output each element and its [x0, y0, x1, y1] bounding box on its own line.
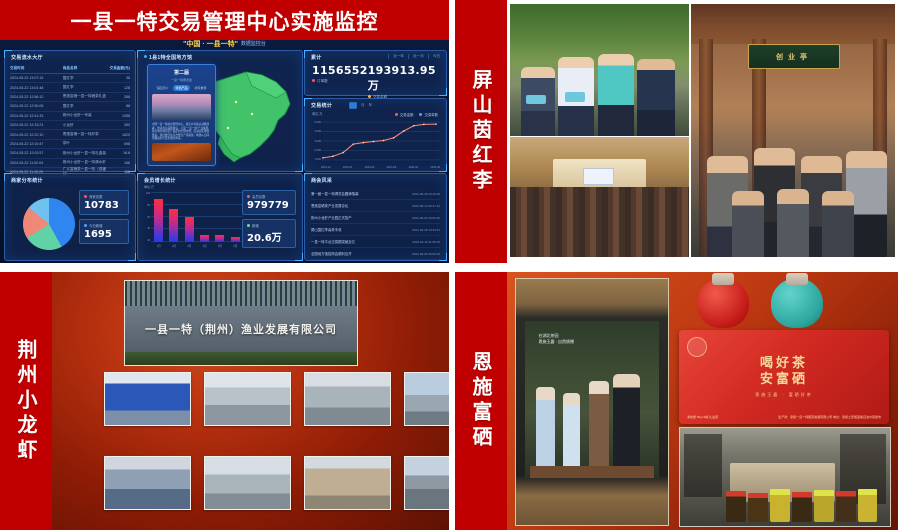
- trend-x-axis: 2023-12 2024-01 2024-02 2024-03 2024-04 …: [321, 166, 440, 169]
- bar-x-axis: 1月2月 3月4月 5月6月: [151, 244, 243, 248]
- stat-orders-label: 订单数: [312, 79, 368, 84]
- list-item[interactable]: 全国地方馆招商会顺利召开 2024-04-08 15:52:43: [311, 248, 440, 260]
- kpi-value: 979779: [247, 200, 291, 211]
- bar-item: [169, 209, 178, 242]
- table-header-row: 交易时间 商品名称 交易金额(元): [10, 64, 130, 74]
- photo-collage-enshi: 在湖北茶园 恩施玉露 · 自然馈赠: [507, 272, 898, 530]
- legend-dot-icon: [395, 113, 398, 116]
- popup-photo-landscape: [152, 94, 211, 120]
- x-tick: 6月: [233, 244, 237, 248]
- stat-amount: 193913.95万 交易金额: [368, 64, 439, 100]
- table-row[interactable]: 2024-05-22 12:56:12 恩施富硒一县一特硒茶礼盒 268: [10, 93, 130, 102]
- news-title: 屏山茵红李喜获丰收: [311, 227, 342, 232]
- photo-officials-holding-plums: [510, 4, 689, 136]
- cell-time: 2024-05-22 12:10:47: [10, 142, 63, 146]
- legend-orders: 交易单数: [419, 112, 438, 117]
- bar-series: [151, 192, 243, 242]
- photo-company-sign: 一县一特（荆州）渔业发展有限公司: [124, 280, 358, 366]
- label-strip-pingshan: 屏山茵红李: [455, 0, 507, 263]
- page-title: 一县一特交易管理中心实施监控: [0, 0, 449, 42]
- vertical-label: 恩施富硒: [470, 351, 492, 451]
- person-figure: [589, 381, 609, 469]
- panel-top-left: 一县一特交易管理中心实施监控 "中国 · 一县一特" 数据监控台 交易流水大厅 …: [0, 0, 449, 263]
- kpi-label: 商家总数: [84, 194, 124, 199]
- table-row[interactable]: 2024-05-22 12:10:47 茶叶 698: [10, 140, 130, 149]
- kpi-value: 20.6万: [247, 229, 291, 244]
- card-title-transactions: 交易流水大厅: [11, 54, 43, 61]
- x-tick: 2月: [172, 244, 176, 248]
- trend-tab-month[interactable]: 月: [361, 103, 365, 108]
- popup-tab-products[interactable]: 特色产品: [173, 85, 189, 91]
- person-figure: [563, 393, 580, 469]
- photo-tea-ceremony: 在湖北茶园 恩施玉露 · 自然馈赠: [515, 278, 669, 526]
- photo-collage-pingshan: 创业亭: [507, 0, 898, 263]
- dashboard-subtitle: 数据监控台: [241, 40, 266, 47]
- red-banner: 一县一特交易管理中心实施监控: [0, 0, 449, 42]
- sign-wall: 一县一特（荆州）渔业发展有限公司: [125, 306, 357, 351]
- kpi-member-total: 会员总数 979779: [242, 190, 296, 215]
- card-title-news: 商会风采: [311, 177, 332, 184]
- cell-name: 茶叶: [63, 141, 109, 146]
- col-name: 商品名称: [63, 66, 109, 71]
- photo-processing-equipment-1: [204, 372, 291, 426]
- stats-tab-group: 近一年 近一月 今日: [388, 54, 440, 59]
- popup-body-text: 中国一县一特交易管理中心，落实乡村振兴战略部署，推进农业品牌建设，打造"一县一特…: [152, 123, 211, 141]
- photo-group-at-pavilion: 创业亭: [691, 4, 895, 257]
- pie-chart: [23, 198, 75, 250]
- bar-item: [231, 237, 240, 242]
- card-transaction-trend: 交易统计 月 年 单位:万 交易金额 交易单数 5,000 4,000 3,00…: [304, 98, 447, 172]
- card-title-stats: 累计: [311, 54, 322, 61]
- trend-tab-group: 月 年: [349, 102, 372, 109]
- cell-amount: 166: [108, 161, 130, 165]
- person-figure: [536, 387, 555, 469]
- news-date: 2024-05-06 16:05:32: [412, 216, 440, 220]
- photo-gift-box: 喝好茶 安富硒 恩施玉露 · 富硒好茶 净含量 50g×2罐 礼盒装 生产商：恩…: [679, 330, 889, 424]
- bottle: [836, 491, 856, 522]
- list-item[interactable]: 恩施富硒茶产业发展论坛 2024-05-12 09:27:14: [311, 200, 440, 212]
- dashboard-screenshot: "中国 · 一县一特" 数据监控台 交易流水大厅 交易时间 商品名称 交易金额(…: [0, 40, 449, 263]
- bar-item: [215, 235, 224, 242]
- news-title: 全国地方馆招商会顺利召开: [311, 251, 352, 256]
- cell-amount: 18.8: [108, 151, 130, 155]
- ceramic-jars-group: [679, 276, 889, 334]
- bar-unit-label: 单位:万: [144, 185, 154, 189]
- table-row[interactable]: 2024-05-22 13:01:48 茵红李 128: [10, 83, 130, 92]
- kpi-label: 新增: [247, 223, 291, 228]
- news-title: 荆州小龙虾产业园正式投产: [311, 215, 352, 220]
- table-row[interactable]: 2024-05-22 12:50:06 茵红李 88: [10, 102, 130, 111]
- trend-y-axis: 5,000 4,000 3,000 2,000 1,000: [312, 121, 321, 161]
- photo-loading-dock: [204, 456, 291, 510]
- photo-stacked-cartons: [304, 456, 391, 510]
- fruit-basket: [526, 95, 546, 104]
- table-row[interactable]: 2024-05-22 13:07:15 茵红李 36: [10, 74, 130, 83]
- fruit-basket: [565, 92, 585, 101]
- news-title: 恩施富硒茶产业发展论坛: [311, 203, 348, 208]
- card-title-bar: 会员增长统计: [144, 177, 176, 184]
- list-item[interactable]: 荆州小龙虾产业园正式投产 2024-05-06 16:05:32: [311, 212, 440, 224]
- caption-line-2: 恩施玉露 · 自然馈赠: [538, 339, 574, 345]
- y-tick: 20: [142, 239, 150, 242]
- person-figure: [732, 191, 765, 257]
- map-popup-card[interactable]: 第二届 一县一特博览会 馆区简介 特色产品 商家推荐 中国一县一特交易管理中心，…: [147, 64, 216, 166]
- legend-amount: 交易金额: [395, 112, 414, 117]
- trend-unit-label: 单位:万: [312, 111, 322, 116]
- x-tick: 5月: [218, 244, 222, 248]
- bottle: [748, 493, 768, 522]
- cell-amount: 1620: [108, 133, 130, 137]
- card-national-map: 1县1特全国地方馆 第二届 一县一特博览会: [137, 50, 303, 172]
- person-figure: [613, 374, 640, 472]
- col-time: 交易时间: [10, 66, 63, 71]
- y-tick: 5,000: [312, 121, 321, 124]
- stats-tab-today[interactable]: 今日: [428, 54, 440, 59]
- gift-box-main-text: 喝好茶 安富硒: [679, 356, 889, 388]
- cell-name: 荆州小龙虾一县一特礼盒装: [63, 151, 109, 156]
- kpi-merchant-total: 商家总数 10783: [79, 190, 129, 215]
- cell-name: 荆州小龙虾一号装: [63, 113, 109, 118]
- stat-orders: 1156552 订单数: [312, 64, 368, 100]
- dashboard-header: "中国 · 一县一特" 数据监控台: [0, 37, 449, 50]
- legend-dot-icon: [84, 224, 87, 227]
- photo-factory-gate: [404, 372, 449, 426]
- y-tick: 1,000: [312, 158, 321, 161]
- trend-tab-day[interactable]: [349, 102, 357, 109]
- legend-dot-icon: [247, 195, 250, 198]
- col-amount: 交易金额(元): [108, 66, 130, 71]
- hedge: [125, 352, 357, 365]
- y-tick: 2,000: [312, 149, 321, 152]
- bottle: [792, 492, 812, 522]
- cell-amount: 128: [108, 86, 130, 90]
- cell-amount: 268: [108, 95, 130, 99]
- x-tick: 2024-05: [430, 166, 440, 169]
- projection-screen: [583, 168, 614, 184]
- popup-tab-intro[interactable]: 馆区简介: [154, 85, 170, 91]
- bottle: [770, 489, 790, 522]
- card-title-pie: 商家分布统计: [11, 177, 43, 184]
- trend-legend: 交易金额 交易单数: [395, 112, 438, 117]
- cell-amount: 1058: [108, 114, 130, 118]
- list-item[interactable]: 第一届一县一特博览会圆满落幕 2024-05-18 10:42:06: [311, 188, 440, 200]
- cell-time: 2024-05-22 12:50:06: [10, 104, 63, 108]
- bottle: [726, 491, 746, 522]
- cell-amount: 698: [108, 142, 130, 146]
- red-ceramic-jar: [697, 278, 749, 328]
- photo-workers-sorting-line: [104, 372, 191, 426]
- cell-time: 2024-05-22 12:02:57: [10, 151, 63, 155]
- card-transaction-table: 交易流水大厅 交易时间 商品名称 交易金额(元) 2024-05-22 13:0…: [4, 50, 136, 172]
- pavilion-roof: [691, 4, 895, 44]
- list-item[interactable]: 屏山茵红李喜获丰收 2024-04-28 14:33:51: [311, 224, 440, 236]
- table-row[interactable]: 2024-05-22 12:02:57 荆州小龙虾一县一特礼盒装 18.8: [10, 149, 130, 158]
- popup-tabs: 馆区简介 特色产品 商家推荐: [148, 85, 215, 91]
- news-title: 第一届一县一特博览会圆满落幕: [311, 191, 358, 196]
- table-row[interactable]: 2024-05-22 12:22:10 恩施富硒一县一特好茶 1620: [10, 130, 130, 139]
- plaque-text: 创业亭: [776, 52, 812, 62]
- transaction-table: 交易时间 商品名称 交易金额(元) 2024-05-22 13:07:15 茵红…: [10, 64, 130, 177]
- audience-seats: [510, 187, 689, 257]
- legend-dot-icon: [419, 113, 422, 116]
- cell-amount: 36: [108, 76, 130, 80]
- person-figure: [822, 191, 855, 257]
- kpi-member-new: 新增 20.6万: [242, 219, 296, 248]
- legend-dot-icon: [84, 195, 87, 198]
- y-tick: 100: [142, 192, 150, 195]
- person-figure: [598, 54, 634, 136]
- news-date: 2024-04-28 14:33:51: [412, 228, 440, 232]
- x-tick: 2024-02: [365, 166, 375, 169]
- x-tick: 2023-12: [321, 166, 331, 169]
- gift-box-line-2: 安富硒: [679, 372, 889, 388]
- cell-time: 2024-05-22 11:52:04: [10, 161, 63, 165]
- vertical-label: 屏山茵红李: [470, 69, 492, 194]
- legend-dot-icon: [247, 224, 250, 227]
- photo-collage-jingzhou: 一县一特（荆州）渔业发展有限公司: [52, 272, 449, 530]
- tea-table: [530, 466, 653, 479]
- jar-lid: [712, 273, 735, 285]
- kpi-value: 1695: [84, 229, 124, 240]
- bar-item: [185, 217, 194, 242]
- news-list: 第一届一县一特博览会圆满落幕 2024-05-18 10:42:06 恩施富硒茶…: [311, 188, 440, 260]
- cell-name: 茵红李: [63, 104, 109, 109]
- bar-y-axis: 100 80 60 40 20: [142, 192, 150, 242]
- panel-bottom-right: 恩施富硒 在湖北茶园 恩施玉露 · 自然馈赠: [455, 272, 898, 530]
- y-tick: 80: [142, 204, 150, 207]
- trend-tab-year[interactable]: 年: [369, 103, 373, 108]
- pie-kpi-group: 商家总数 10783 今日新增 1695: [79, 190, 129, 248]
- cell-time: 2024-05-22 12:22:10: [10, 133, 63, 137]
- photo-product-store: [679, 427, 891, 527]
- trend-plot-area: [321, 121, 440, 161]
- kpi-label: 会员总数: [247, 194, 291, 199]
- bottle: [814, 490, 834, 522]
- x-tick: 4月: [203, 244, 207, 248]
- gift-box-sub-text: 恩施玉露 · 富硒好茶: [679, 392, 889, 398]
- store-shelf: [684, 434, 722, 497]
- cell-time: 2024-05-22 13:07:15: [10, 76, 63, 80]
- kpi-merchant-new: 今日新增 1695: [79, 219, 129, 244]
- dashboard-title: "中国 · 一县一特": [183, 39, 238, 49]
- list-item[interactable]: 一县一特平台交易额突破百亿 2024-04-19 11:08:15: [311, 236, 440, 248]
- cell-name: 茵红李: [63, 76, 109, 81]
- photo-factory-road: [404, 456, 449, 510]
- brand-logo-icon: [687, 337, 707, 357]
- y-tick: 3,000: [312, 140, 321, 143]
- stat-amount-value: 193913.95万: [368, 64, 439, 93]
- vertical-label: 荆州小龙虾: [15, 339, 37, 464]
- bar-kpi-group: 会员总数 979779 新增 20.6万: [242, 190, 296, 252]
- pavilion-plaque: 创业亭: [748, 44, 840, 69]
- bar-plot-area: [151, 192, 243, 242]
- stats-tab-year[interactable]: 近一年: [388, 54, 404, 59]
- panel-bottom-left: 荆州小龙虾 一县一特（荆州）渔业发展有限公司: [0, 272, 449, 530]
- table-row[interactable]: 2024-05-22 12:41:33 荆州小龙虾一号装 1058: [10, 112, 130, 121]
- photo-processing-equipment-2: [304, 372, 391, 426]
- cell-name: 茵红李: [63, 85, 109, 90]
- cell-name: 恩施富硒一县一特硒茶礼盒: [63, 94, 109, 99]
- cell-name: 小龙虾: [63, 123, 109, 128]
- cell-time: 2024-05-22 12:41:33: [10, 114, 63, 118]
- stats-values: 1156552 订单数 193913.95万 交易金额: [312, 64, 439, 100]
- label-strip-enshi: 恩施富硒: [455, 272, 507, 530]
- person-figure: [637, 59, 675, 136]
- card-news-list: 商会风采 第一届一县一特博览会圆满落幕 2024-05-18 10:42:06 …: [304, 173, 447, 261]
- jar-lid: [786, 273, 809, 285]
- cell-time: 2024-05-22 13:01:48: [10, 86, 63, 90]
- cell-amount: 88: [108, 104, 130, 108]
- tea-scene-caption: 在湖北茶园 恩施玉露 · 自然馈赠: [538, 333, 574, 345]
- stats-tab-month[interactable]: 近一月: [408, 54, 424, 59]
- table-row[interactable]: 2024-05-22 12:33:21 小龙虾 352: [10, 121, 130, 130]
- map-area[interactable]: 第二届 一县一特博览会 馆区简介 特色产品 商家推荐 中国一县一特交易管理中心，…: [138, 60, 302, 170]
- cell-name: 恩施富硒一县一特好茶: [63, 132, 109, 137]
- cell-time: 2024-05-22 12:56:12: [10, 95, 63, 99]
- x-tick: 2024-04: [409, 166, 419, 169]
- gift-box-footer-right: 生产商：恩施一县一特硒茶发展有限公司 地址：恩施土家族苗族自治州恩施市: [778, 415, 881, 419]
- bar-item: [200, 235, 209, 242]
- photo-conference-hall: [510, 137, 689, 257]
- panel-top-right: 屏山茵红李 创业: [455, 0, 898, 263]
- teal-ceramic-jar: [771, 278, 823, 328]
- trend-line-chart: [321, 121, 440, 161]
- x-tick: 2024-03: [387, 166, 397, 169]
- stat-orders-value: 1156552: [312, 64, 368, 77]
- gift-box-line-1: 喝好茶: [679, 356, 889, 372]
- news-title: 一县一特平台交易额突破百亿: [311, 239, 355, 244]
- news-date: 2024-04-08 15:52:43: [412, 252, 440, 256]
- cell-name: 荆州小龙虾一县一特清水虾: [63, 160, 109, 165]
- news-date: 2024-04-19 11:08:15: [412, 240, 440, 244]
- tea-scene: 在湖北茶园 恩施玉露 · 自然馈赠: [525, 321, 659, 478]
- fence-top: [125, 281, 357, 306]
- label-strip-jingzhou: 荆州小龙虾: [0, 272, 52, 530]
- card-title-trend: 交易统计: [311, 102, 332, 109]
- photo-warehouse-worker: [104, 456, 191, 510]
- oil-bottle-row: [726, 488, 877, 522]
- popup-photo-food: [152, 143, 211, 161]
- news-date: 2024-05-12 09:27:14: [412, 204, 440, 208]
- bar-item: [154, 199, 163, 242]
- person-figure: [777, 189, 810, 257]
- y-tick: 60: [142, 216, 150, 219]
- popup-title: 第二届: [148, 69, 215, 76]
- card-merchant-distribution: 商家分布统计 商家总数 10783 今日新增 1695: [4, 173, 136, 261]
- gift-box-footer-left: 净含量 50g×2罐 礼盒装: [687, 415, 718, 419]
- y-tick: 40: [142, 227, 150, 230]
- news-date: 2024-05-18 10:42:06: [412, 192, 440, 196]
- x-tick: 2024-01: [343, 166, 353, 169]
- cell-time: 2024-05-22 12:33:21: [10, 123, 63, 127]
- bullet-icon: [144, 55, 147, 58]
- popup-tab-merchants[interactable]: 商家推荐: [193, 85, 209, 91]
- bottle: [858, 489, 878, 522]
- y-tick: 4,000: [312, 130, 321, 133]
- kpi-value: 10783: [84, 200, 124, 211]
- card-member-growth: 会员增长统计 单位:万 100 80 60 40 20: [137, 173, 303, 261]
- card-cumulative-stats: 累计 近一年 近一月 今日 1156552 订单数 193913.95万: [304, 50, 447, 96]
- popup-subtitle: 一县一特博览会: [148, 78, 215, 82]
- legend-dot-icon: [312, 79, 315, 82]
- company-sign-text: 一县一特（荆州）渔业发展有限公司: [145, 321, 337, 337]
- slide-root: 一县一特交易管理中心实施监控 "中国 · 一县一特" 数据监控台 交易流水大厅 …: [0, 0, 898, 530]
- cell-amount: 352: [108, 123, 130, 127]
- x-tick: 1月: [157, 244, 161, 248]
- x-tick: 3月: [187, 244, 191, 248]
- kpi-label: 今日新增: [84, 223, 124, 228]
